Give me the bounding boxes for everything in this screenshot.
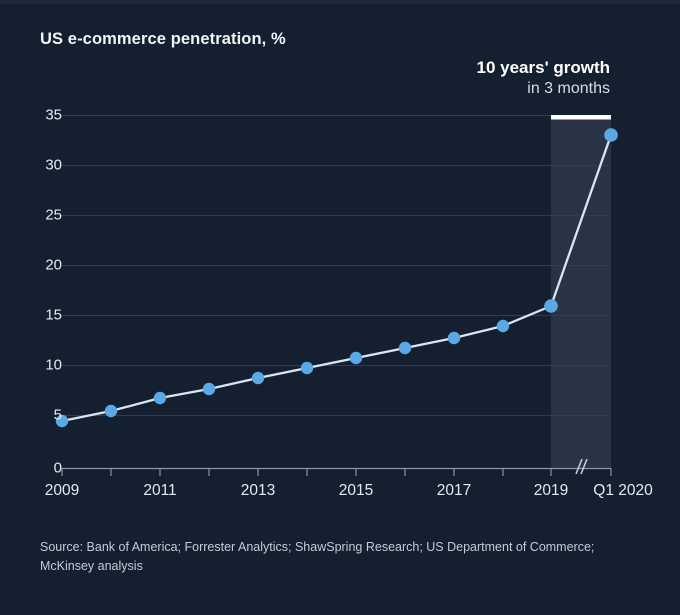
- chart-card: US e-commerce penetration, % 10 years' g…: [0, 0, 680, 615]
- x-tick-2017: 2017: [437, 482, 471, 500]
- source-note: Source: Bank of America; Forrester Analy…: [40, 538, 640, 577]
- x-tick-2019: 2019: [534, 482, 568, 500]
- x-tick-2011: 2011: [143, 482, 176, 500]
- x-tick-2009: 2009: [45, 482, 79, 500]
- x-tick-2015: 2015: [339, 482, 373, 500]
- x-tick-2013: 2013: [241, 482, 275, 500]
- x-axis-labels: 2009 2011 2013 2015 2017 2019 Q1 2020: [0, 0, 680, 615]
- x-tick-q1-2020: Q1 2020: [593, 482, 652, 500]
